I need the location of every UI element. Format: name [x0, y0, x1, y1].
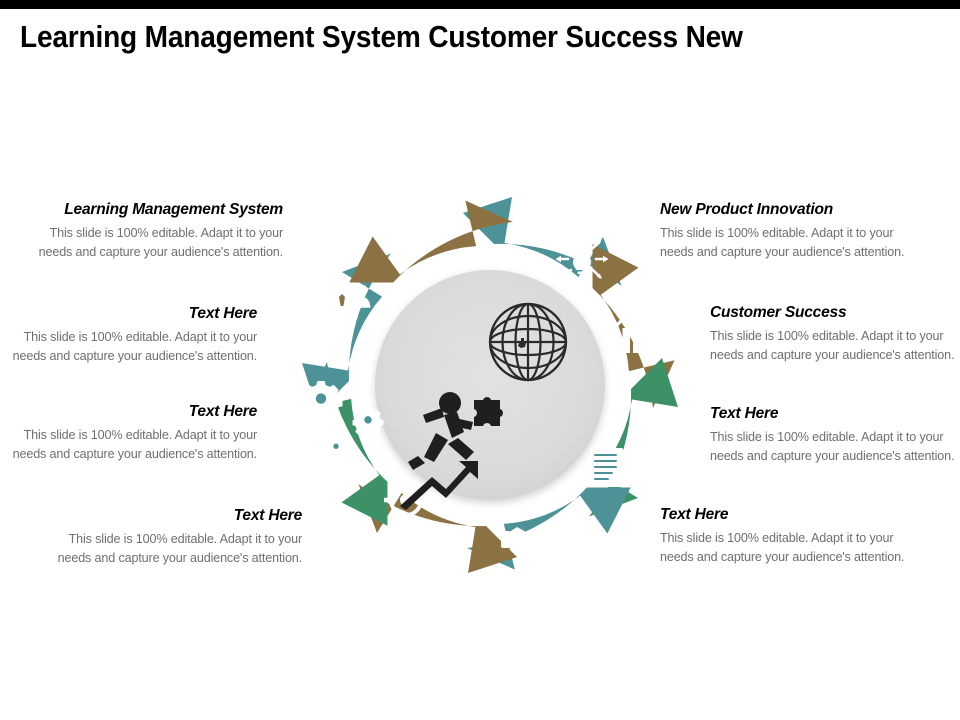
text-block-left-2: Text Here This slide is 100% editable. A…: [7, 304, 257, 365]
text-block-left-4: Text Here This slide is 100% editable. A…: [52, 506, 302, 567]
text-block-left-2-body: This slide is 100% editable. Adapt it to…: [7, 328, 257, 365]
text-block-right-2-heading: Customer Success: [710, 303, 960, 322]
text-block-right-2-body: This slide is 100% editable. Adapt it to…: [710, 327, 960, 364]
slide-canvas: Learning Management System Customer Succ…: [0, 0, 960, 720]
text-block-left-1-body: This slide is 100% editable. Adapt it to…: [33, 224, 283, 261]
gears-icon: [300, 381, 384, 458]
text-block-right-3-body: This slide is 100% editable. Adapt it to…: [710, 428, 960, 465]
center-circle: [375, 270, 605, 500]
text-block-left-3-body: This slide is 100% editable. Adapt it to…: [7, 426, 257, 463]
notepad-icon: [590, 448, 631, 487]
text-block-left-1-heading: Learning Management System: [33, 200, 283, 219]
top-black-bar: [0, 0, 960, 9]
text-block-left-3-heading: Text Here: [7, 402, 257, 421]
bar-chart-icon: [612, 304, 654, 353]
text-block-left-4-heading: Text Here: [52, 506, 302, 525]
text-block-right-2: Customer Success This slide is 100% edit…: [710, 303, 960, 364]
text-block-right-3-heading: Text Here: [710, 404, 960, 423]
text-block-left-4-body: This slide is 100% editable. Adapt it to…: [52, 530, 302, 567]
circular-cycle-diagram: [280, 155, 700, 615]
text-block-left-1: Learning Management System This slide is…: [33, 200, 283, 261]
text-block-left-3: Text Here This slide is 100% editable. A…: [7, 402, 257, 463]
text-block-right-3: Text Here This slide is 100% editable. A…: [710, 404, 960, 465]
page-title: Learning Management System Customer Succ…: [20, 17, 876, 57]
text-block-left-2-heading: Text Here: [7, 304, 257, 323]
globe-icon: [490, 304, 566, 380]
